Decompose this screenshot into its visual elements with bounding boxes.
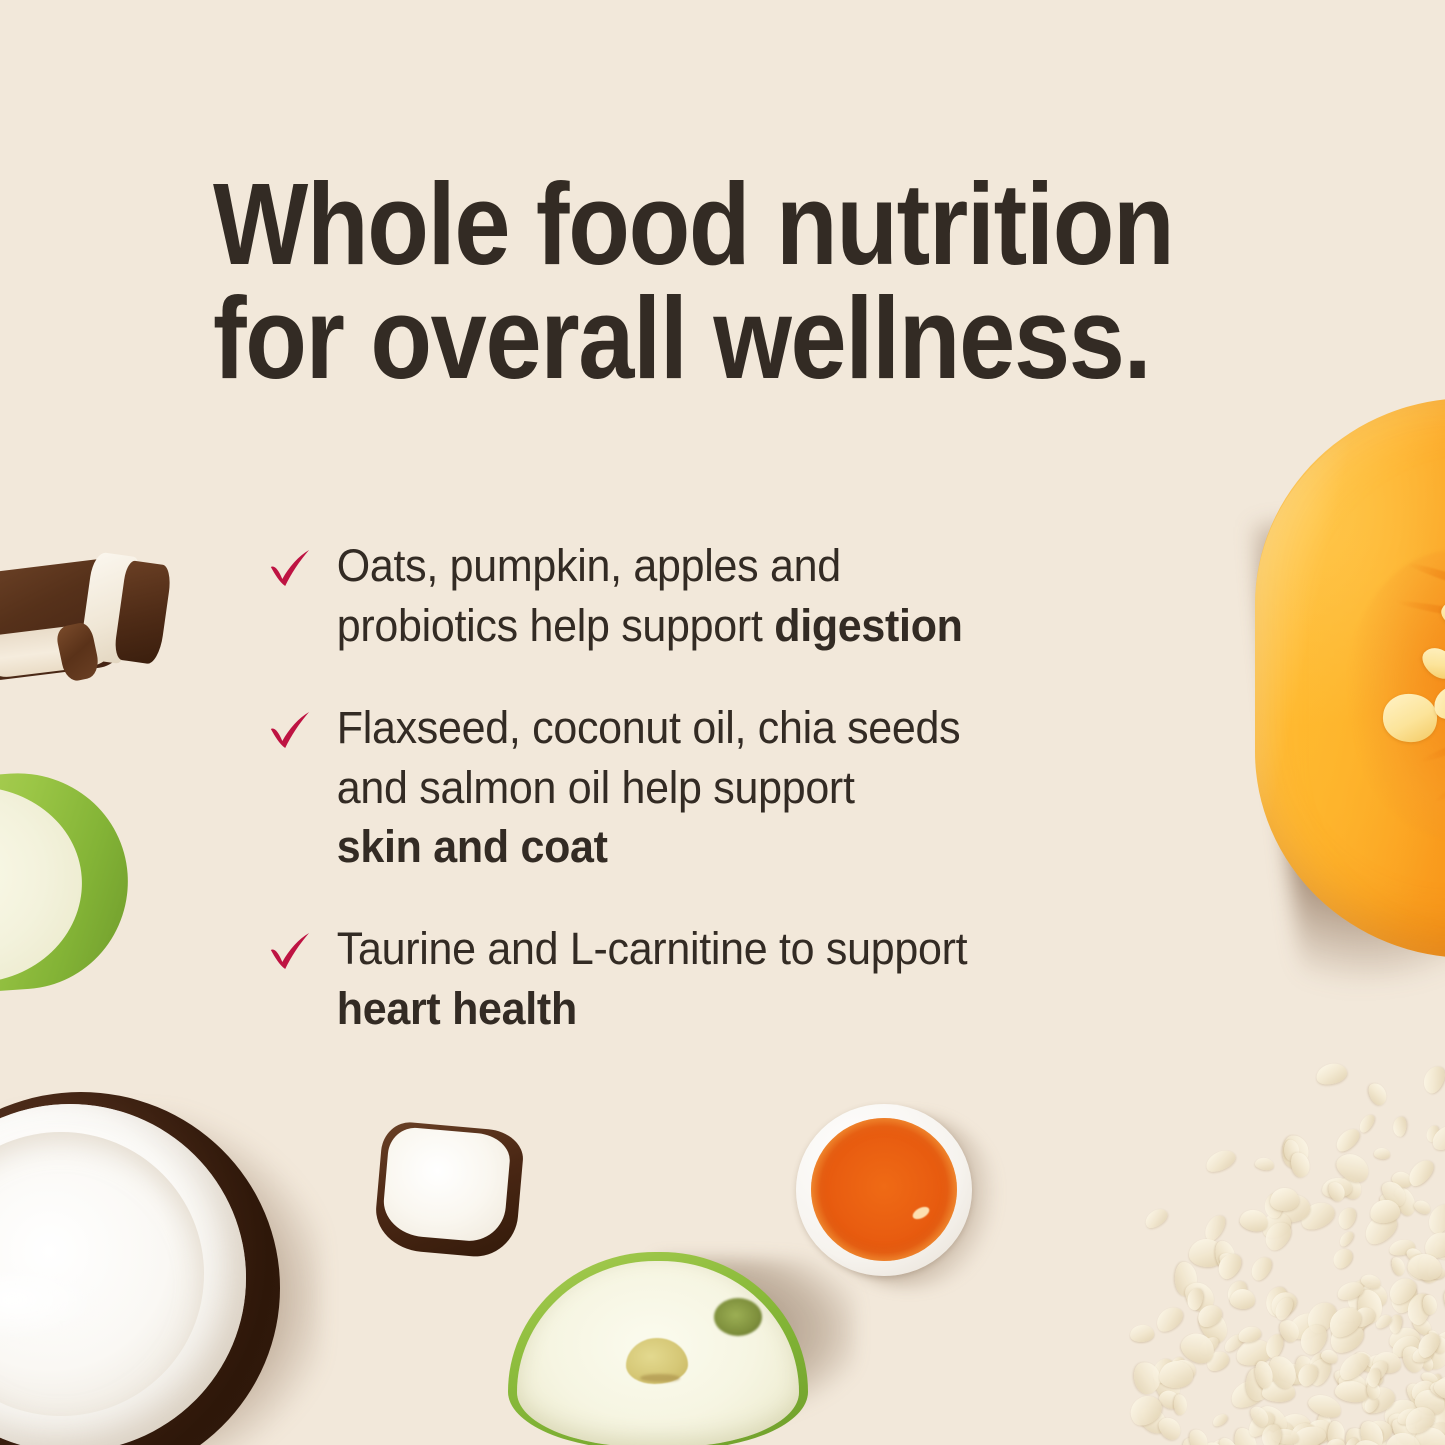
list-item: Oats, pumpkin, apples and probiotics hel… [268,536,1185,656]
benefit-line: probiotics help support digestion [337,596,1185,656]
page-title: Whole food nutrition for overall wellnes… [213,168,1135,395]
benefit-line: skin and coat [337,817,1185,877]
benefit-line: and salmon oil help support [337,758,1185,818]
benefit-emphasis: heart health [337,983,577,1034]
benefit-line: Flaxseed, coconut oil, chia seeds [337,698,1185,758]
text-content: Whole food nutrition for overall wellnes… [0,0,1445,1445]
checkmark-icon [268,548,312,588]
list-item: Taurine and L-carnitine to support heart… [268,919,1185,1039]
checkmark-icon [268,931,312,971]
benefit-emphasis: digestion [774,600,962,651]
benefit-emphasis: skin and coat [337,821,608,872]
benefit-line: Oats, pumpkin, apples and [337,536,1185,596]
benefits-list: Oats, pumpkin, apples and probiotics hel… [268,536,1228,1039]
benefit-line: Taurine and L-carnitine to support [337,919,1185,979]
benefit-text: probiotics help support [337,600,774,651]
list-item: Flaxseed, coconut oil, chia seeds and sa… [268,698,1185,878]
benefit-line: heart health [337,979,1185,1039]
promo-image: Whole food nutrition for overall wellnes… [0,0,1445,1445]
headline-line-1: Whole food nutrition [213,168,1135,282]
headline-line-2: for overall wellness. [213,282,1135,396]
checkmark-icon [268,710,312,750]
